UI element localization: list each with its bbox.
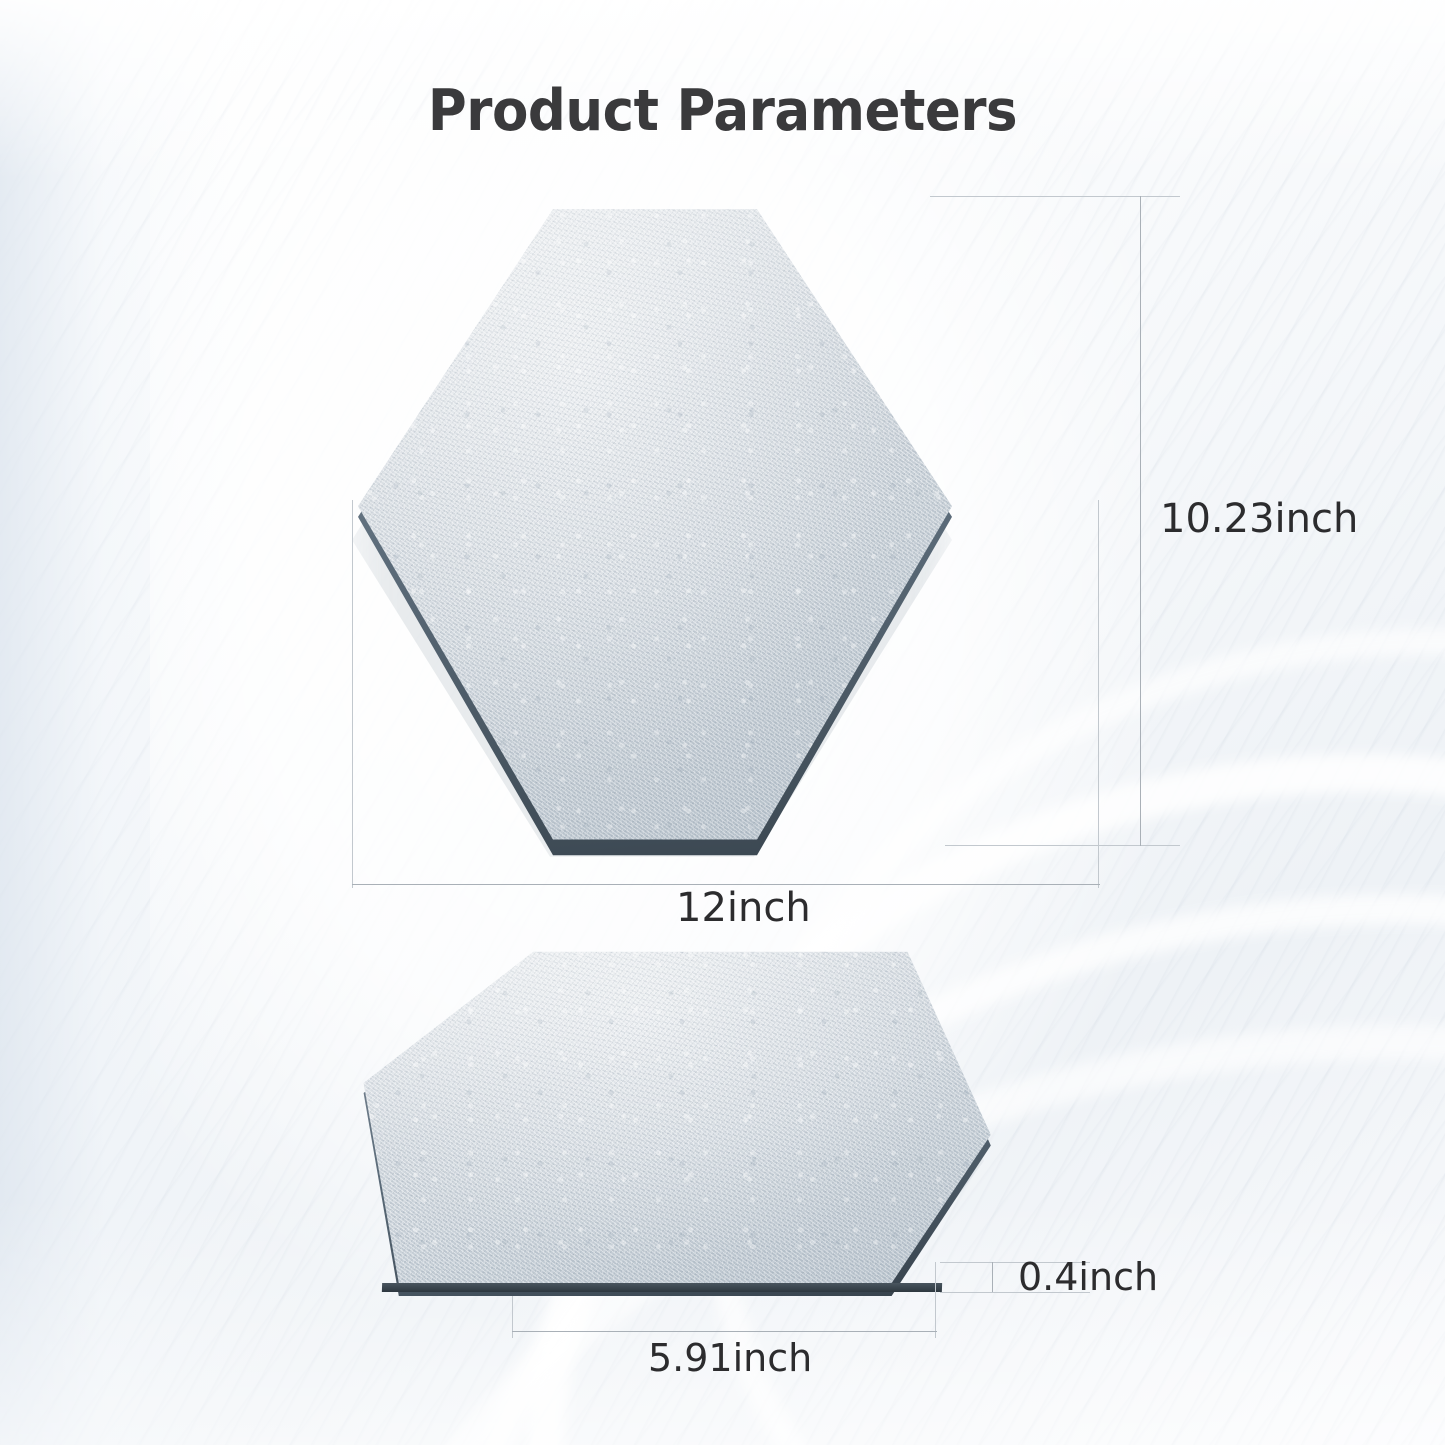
hexagon-figure-angled (340, 945, 1030, 1320)
height-dimension-line (1140, 196, 1141, 846)
panel-angled-top-face (354, 945, 994, 1290)
hexagon-panel-angled-view (340, 945, 1030, 1320)
width-dimension-label: 12inch (676, 885, 811, 931)
edge-length-extension-line-right (935, 1262, 936, 1338)
panel-angled-highlight (354, 945, 994, 1290)
height-extension-line-bottom (945, 845, 1180, 846)
panel-rim-light (352, 196, 952, 856)
width-extension-line-right (1098, 500, 1099, 888)
thickness-dimension-label: 0.4inch (1018, 1255, 1158, 1299)
thickness-dimension-line (992, 1262, 993, 1292)
edge-length-dimension-label: 5.91inch (648, 1336, 812, 1380)
page-title: Product Parameters (51, 78, 1395, 144)
width-extension-line-left (352, 500, 353, 888)
panel-top-face (352, 196, 952, 856)
panel-angled-bottom-edge (382, 1283, 942, 1292)
hexagon-panel-front-view (332, 180, 972, 860)
height-extension-line-top (930, 196, 1180, 197)
edge-length-dimension-line (512, 1331, 937, 1332)
hexagon-figure (332, 180, 972, 860)
height-dimension-label: 10.23inch (1160, 496, 1358, 542)
product-parameters-infographic: Product Parameters 10.23inch 12inch (0, 0, 1445, 1445)
